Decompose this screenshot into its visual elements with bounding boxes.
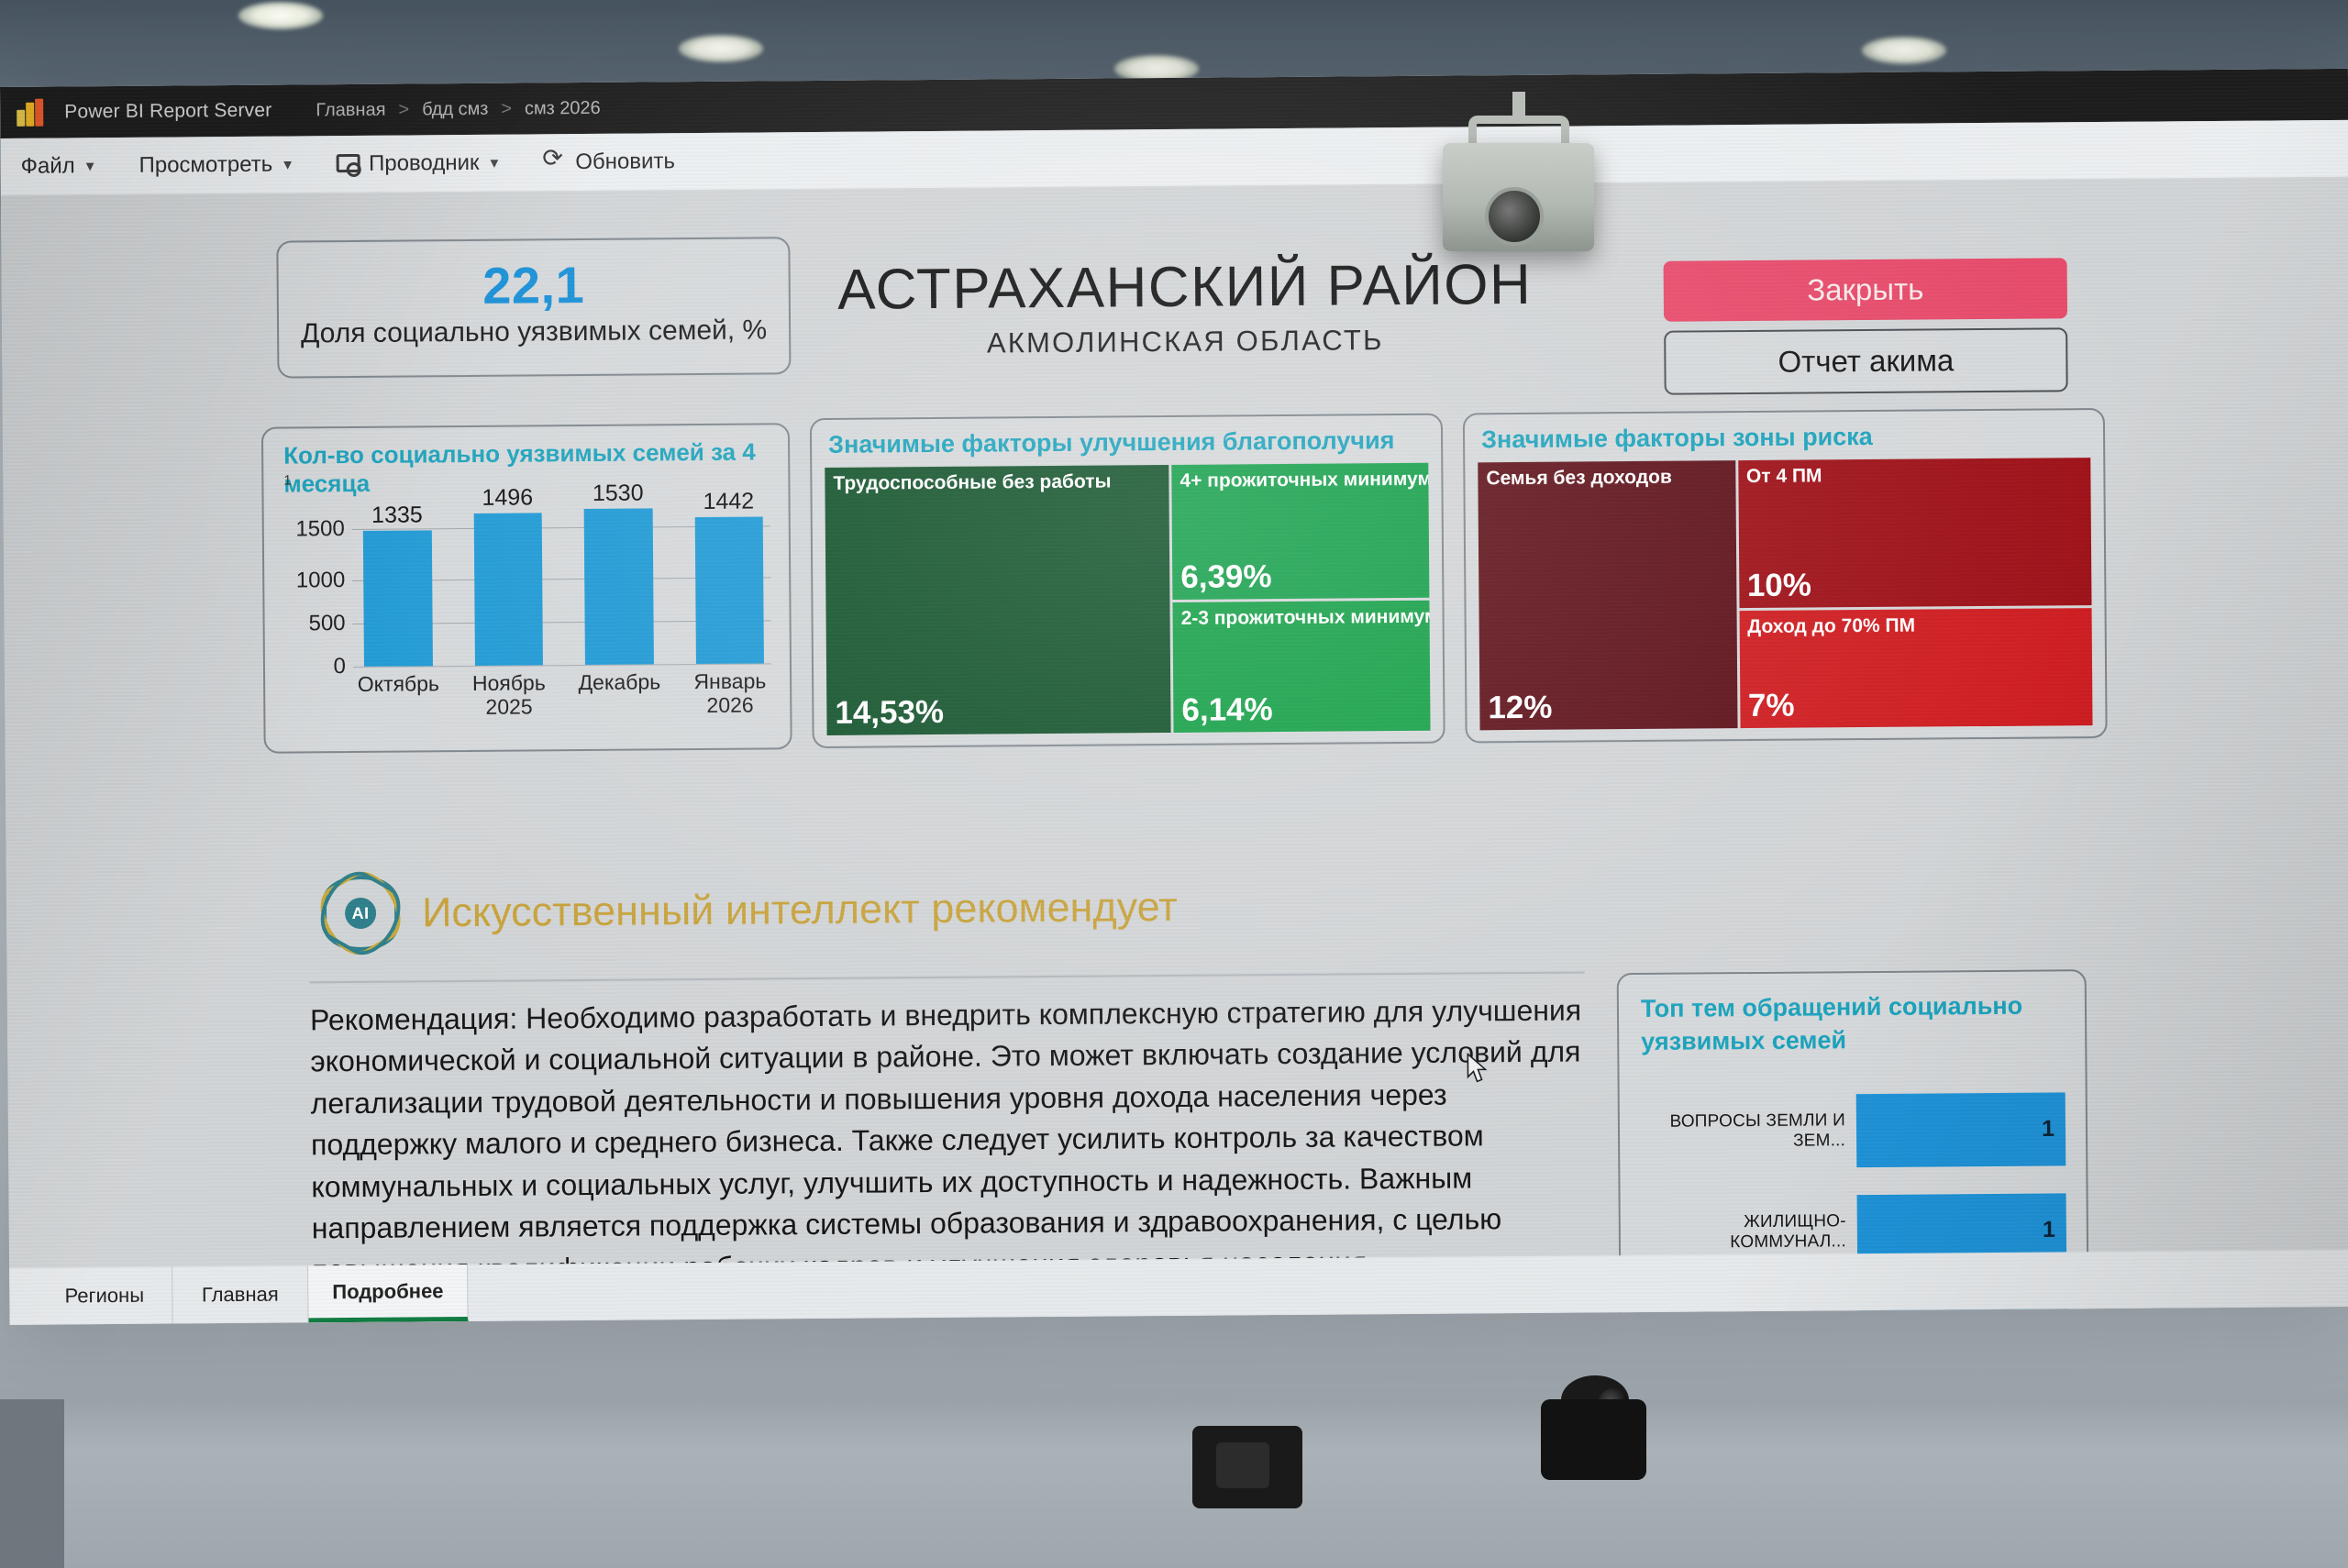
page-subtitle: АКМОЛИНСКАЯ ОБЛАСТЬ [791, 322, 1579, 361]
y-tick-label: 1000 [288, 568, 345, 593]
treemap-title-wellbeing: Значимые факторы улучшения благополучия [828, 426, 1395, 459]
menu-file[interactable]: Файл ▼ [21, 153, 97, 180]
bar[interactable]: 1 [1856, 1092, 2066, 1167]
chart-title-top-themes: Топ тем обращений социально уязвимых сем… [1641, 990, 2036, 1059]
treemap-tile-value: 12% [1488, 690, 1552, 727]
treemap-tile-value: 10% [1747, 567, 1811, 604]
x-tick-label: Ноябрь2025 [468, 670, 551, 720]
treemap-tile[interactable]: Семья без доходов 12% [1478, 460, 1737, 730]
bar-group[interactable]: 1530 [576, 490, 660, 665]
treemap-wellbeing: Трудоспособные без работы 14,53% 4+ прож… [825, 463, 1430, 735]
y-tick-label: 0 [289, 654, 346, 679]
bar[interactable] [363, 530, 433, 667]
treemap-risk: Семья без доходов 12% От 4 ПМ 10% Доход … [1478, 458, 2092, 730]
bar-chart-plot-area: 1500 1000 500 0 1335 1496 1530 [287, 489, 771, 694]
explorer-icon [337, 154, 360, 174]
bar-group[interactable]: 1496 [466, 491, 550, 666]
x-axis-labels: Октябрь Ноябрь2025 Декабрь Январь2026 [357, 668, 771, 720]
bar-value-label: 1442 [687, 488, 770, 515]
bar-value-label: 1 [2043, 1217, 2055, 1243]
treemap-tile[interactable]: Трудоспособные без работы 14,53% [825, 465, 1170, 735]
ceiling-light [679, 35, 763, 62]
video-conference-camera [1541, 1375, 1651, 1485]
bar[interactable] [473, 513, 543, 666]
page-title: АСТРАХАНСКИЙ РАЙОН [790, 251, 1579, 323]
treemap-tile-label: От 4 ПМ [1746, 465, 1822, 488]
treemap-tile[interactable]: От 4 ПМ 10% [1738, 458, 2092, 608]
akim-report-button[interactable]: Отчет акима [1664, 327, 2068, 394]
treemap-tile[interactable]: 2-3 прожиточных минимума 6,14% [1172, 600, 1430, 733]
page-tab-main[interactable]: Главная [172, 1265, 308, 1323]
bar-value-label: 1530 [576, 480, 659, 507]
breadcrumb-item-0[interactable]: Главная [316, 99, 385, 121]
treemap-tile-label: Доход до 70% ПМ [1747, 614, 1915, 637]
ceiling-light [1862, 37, 1946, 64]
ceiling-light [238, 2, 323, 29]
menu-view[interactable]: Просмотреть ▼ [138, 151, 294, 178]
kpi-value: 22,1 [278, 253, 788, 316]
menu-explorer[interactable]: Проводник ▼ [337, 150, 501, 177]
treemap-tile-label: 4+ прожиточных минимума [1180, 469, 1429, 492]
bar[interactable] [584, 508, 654, 665]
wall-left-edge [0, 1399, 64, 1568]
ai-recommendation-text: Рекомендация: Необходимо разработать и в… [310, 989, 1591, 1291]
ceiling-projector [1435, 119, 1600, 220]
breadcrumb-separator-icon: > [398, 99, 409, 120]
bar[interactable] [694, 516, 764, 664]
treemap-tile-value: 7% [1748, 688, 1795, 724]
bar-value-label: 1496 [466, 484, 549, 512]
x-tick-label: Январь2026 [689, 668, 772, 718]
close-button[interactable]: Закрыть [1664, 258, 2068, 321]
page-tab-details[interactable]: Подробнее [308, 1264, 469, 1322]
kpi-label: Доля социально уязвимых семей, % [279, 315, 789, 349]
treemap-column: От 4 ПМ 10% Доход до 70% ПМ 7% [1738, 458, 2093, 728]
treemap-tile-label: 2-3 прожиточных минимума [1181, 605, 1431, 629]
ai-heading: Искусственный интеллект рекомендует [422, 883, 1178, 936]
bar-group[interactable]: ВОПРОСЫ ЗЕМЛИ И ЗЕМ... 1 [1640, 1092, 2066, 1169]
ai-atom-icon: AI [323, 876, 399, 952]
y-tick-label: 500 [288, 611, 345, 636]
treemap-column: 4+ прожиточных минимума 6,39% 2-3 прожит… [1171, 463, 1430, 733]
av-device-box [1192, 1426, 1302, 1508]
y-tick-label: 1500 [288, 516, 345, 542]
chevron-down-icon: ▼ [281, 157, 294, 172]
breadcrumb-separator-icon: > [501, 98, 512, 119]
product-name: Power BI Report Server [64, 100, 271, 124]
y-tick-label: ВОПРОСЫ ЗЕМЛИ И ЗЕМ... [1640, 1110, 1856, 1153]
chart-top-marker: 1 [283, 473, 291, 489]
wall-below-screen [0, 1399, 2348, 1568]
ai-badge-text: AI [345, 898, 376, 929]
bar-value-label: 1335 [356, 502, 439, 529]
treemap-tile-value: 14,53% [835, 694, 944, 732]
bar-group[interactable]: 1335 [355, 491, 439, 667]
bar-value-label: 1 [2042, 1116, 2054, 1143]
menu-view-label: Просмотреть [138, 152, 272, 179]
treemap-tile-value: 6,14% [1181, 691, 1273, 729]
menu-refresh[interactable]: Обновить [543, 149, 675, 175]
page-tab-regions[interactable]: Регионы [37, 1267, 172, 1325]
powerbi-logo-icon [17, 99, 48, 127]
breadcrumb[interactable]: Главная > бдд смз > смз 2026 [316, 97, 601, 120]
treemap-tile-label: Трудоспособные без работы [833, 470, 1111, 494]
treemap-title-risk: Значимые факторы зоны риска [1481, 423, 1873, 454]
breadcrumb-item-2[interactable]: смз 2026 [525, 97, 601, 119]
mouse-cursor-icon [1466, 1053, 1490, 1084]
treemap-tile-value: 6,39% [1180, 558, 1272, 596]
treemap-tile-label: Семья без доходов [1486, 467, 1672, 491]
report-canvas: 22,1 Доля социально уязвимых семей, % АС… [1, 177, 2348, 1325]
treemap-tile[interactable]: Доход до 70% ПМ 7% [1739, 608, 2092, 728]
menu-explorer-label: Проводник [369, 150, 480, 177]
chevron-down-icon: ▼ [487, 155, 501, 171]
treemap-card-wellbeing-factors[interactable]: Значимые факторы улучшения благополучия … [810, 414, 1445, 748]
menu-file-label: Файл [21, 153, 75, 179]
x-tick-label: Октябрь [357, 671, 440, 721]
kpi-card-vulnerable-share[interactable]: 22,1 Доля социально уязвимых семей, % [276, 237, 791, 378]
treemap-tile[interactable]: 4+ прожиточных минимума 6,39% [1171, 463, 1429, 600]
treemap-card-risk-factors[interactable]: Значимые факторы зоны риска Семья без до… [1463, 408, 2108, 743]
refresh-icon [543, 152, 567, 172]
divider [310, 971, 1585, 983]
bar-group[interactable]: 1442 [687, 489, 771, 664]
menu-refresh-label: Обновить [575, 149, 675, 175]
ai-recommendation-header: AI Искусственный интеллект рекомендует [323, 869, 1178, 951]
projection-screen: Power BI Report Server Главная > бдд смз… [0, 69, 2348, 1325]
bar-series: 1335 1496 1530 1442 [355, 489, 770, 667]
chevron-down-icon: ▼ [83, 159, 97, 174]
x-tick-label: Декабрь [578, 669, 661, 719]
chart-card-vulnerable-families[interactable]: Кол-во социально уязвимых семей за 4 мес… [261, 423, 792, 754]
page-title-block: АСТРАХАНСКИЙ РАЙОН АКМОЛИНСКАЯ ОБЛАСТЬ [790, 251, 1579, 361]
y-tick-label: ЖИЛИЩНО-КОММУНАЛ... [1641, 1211, 1857, 1253]
breadcrumb-item-1[interactable]: бдд смз [422, 98, 488, 120]
